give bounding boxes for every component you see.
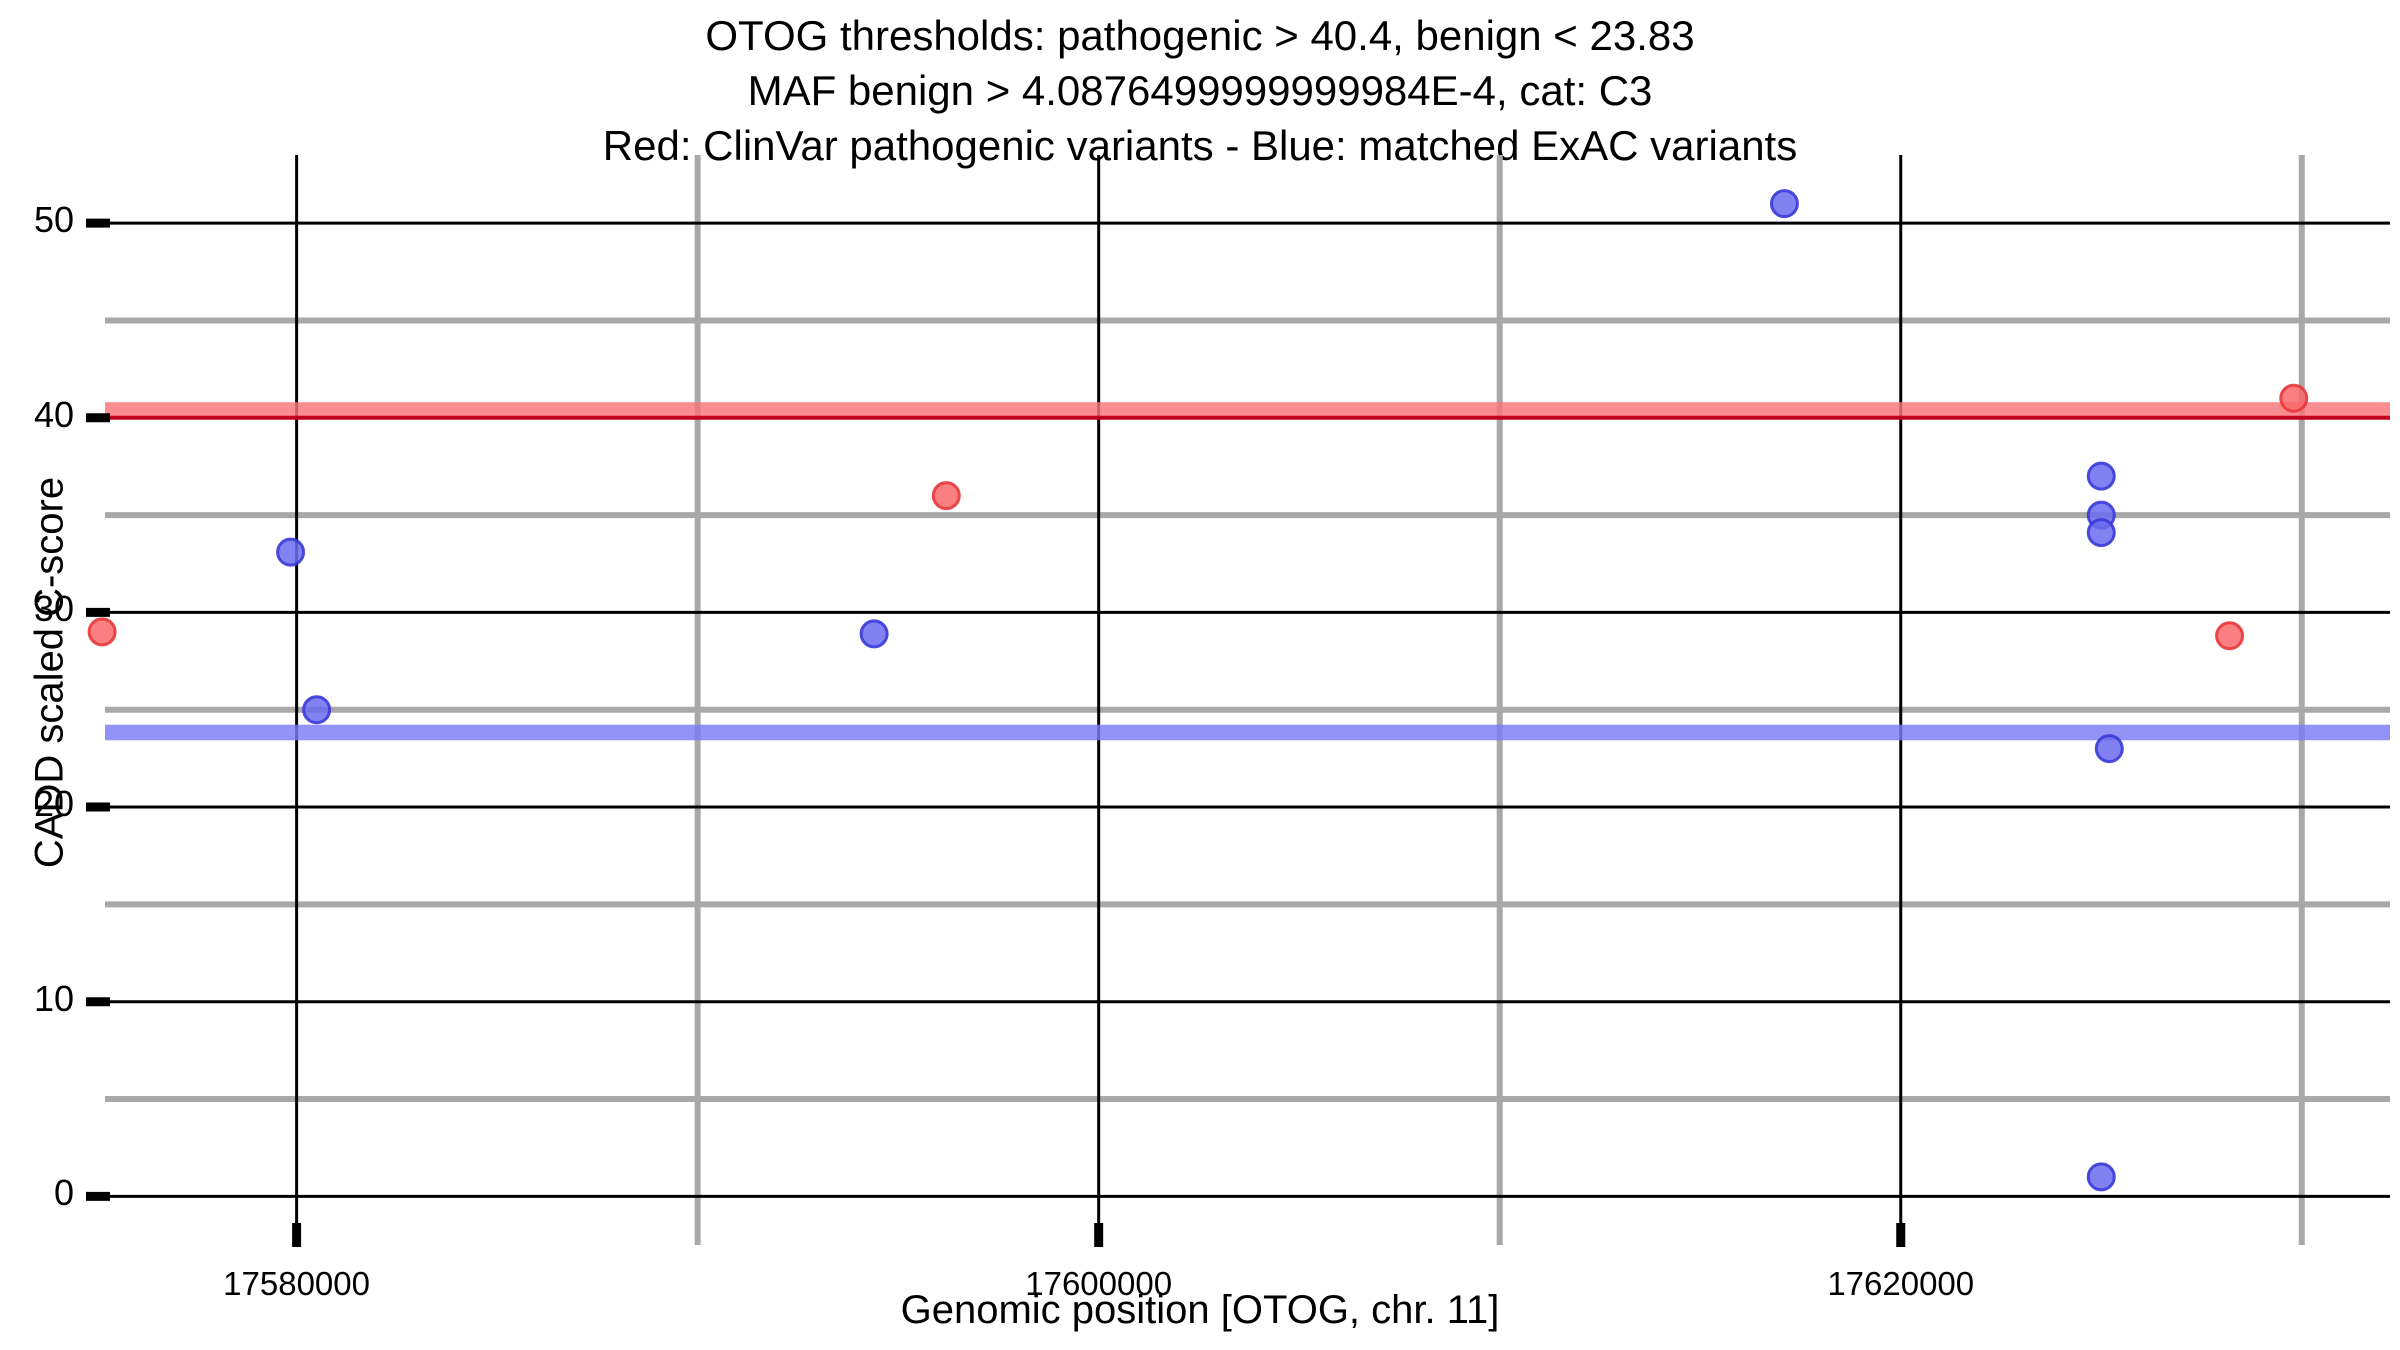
plot-area: 01020304050175800001760000017620000 CADD… — [0, 0, 2400, 1350]
pathogenic-variant-point — [933, 483, 959, 509]
exac-variant-point — [2088, 520, 2114, 546]
benign-threshold-band — [105, 725, 2390, 741]
y-minor-gridlines — [105, 320, 2390, 1099]
exac-variant-point — [861, 621, 887, 647]
threshold-bands — [105, 402, 2390, 740]
exac-variant-point — [2088, 463, 2114, 489]
scatter-plot-svg — [0, 0, 2400, 1350]
y-tick-label: 50 — [0, 199, 74, 241]
exac-variant-point — [278, 539, 304, 565]
y-tick-label: 0 — [0, 1172, 74, 1214]
exac-variant-point — [2096, 736, 2122, 762]
exac-variant-point — [2088, 1164, 2114, 1190]
pathogenic-variant-point — [2217, 623, 2243, 649]
pathogenic-threshold-band — [105, 402, 2390, 418]
data-points — [89, 191, 2307, 1190]
exac-variant-point — [1771, 191, 1797, 217]
chart-root: OTOG thresholds: pathogenic > 40.4, beni… — [0, 0, 2400, 1350]
exac-variant-point — [304, 697, 330, 723]
y-axis-label: CADD scaled C-score — [28, 353, 73, 993]
pathogenic-variant-point — [89, 619, 115, 645]
x-axis-label: Genomic position [OTOG, chr. 11] — [0, 1288, 2400, 1333]
pathogenic-variant-point — [2281, 385, 2307, 411]
